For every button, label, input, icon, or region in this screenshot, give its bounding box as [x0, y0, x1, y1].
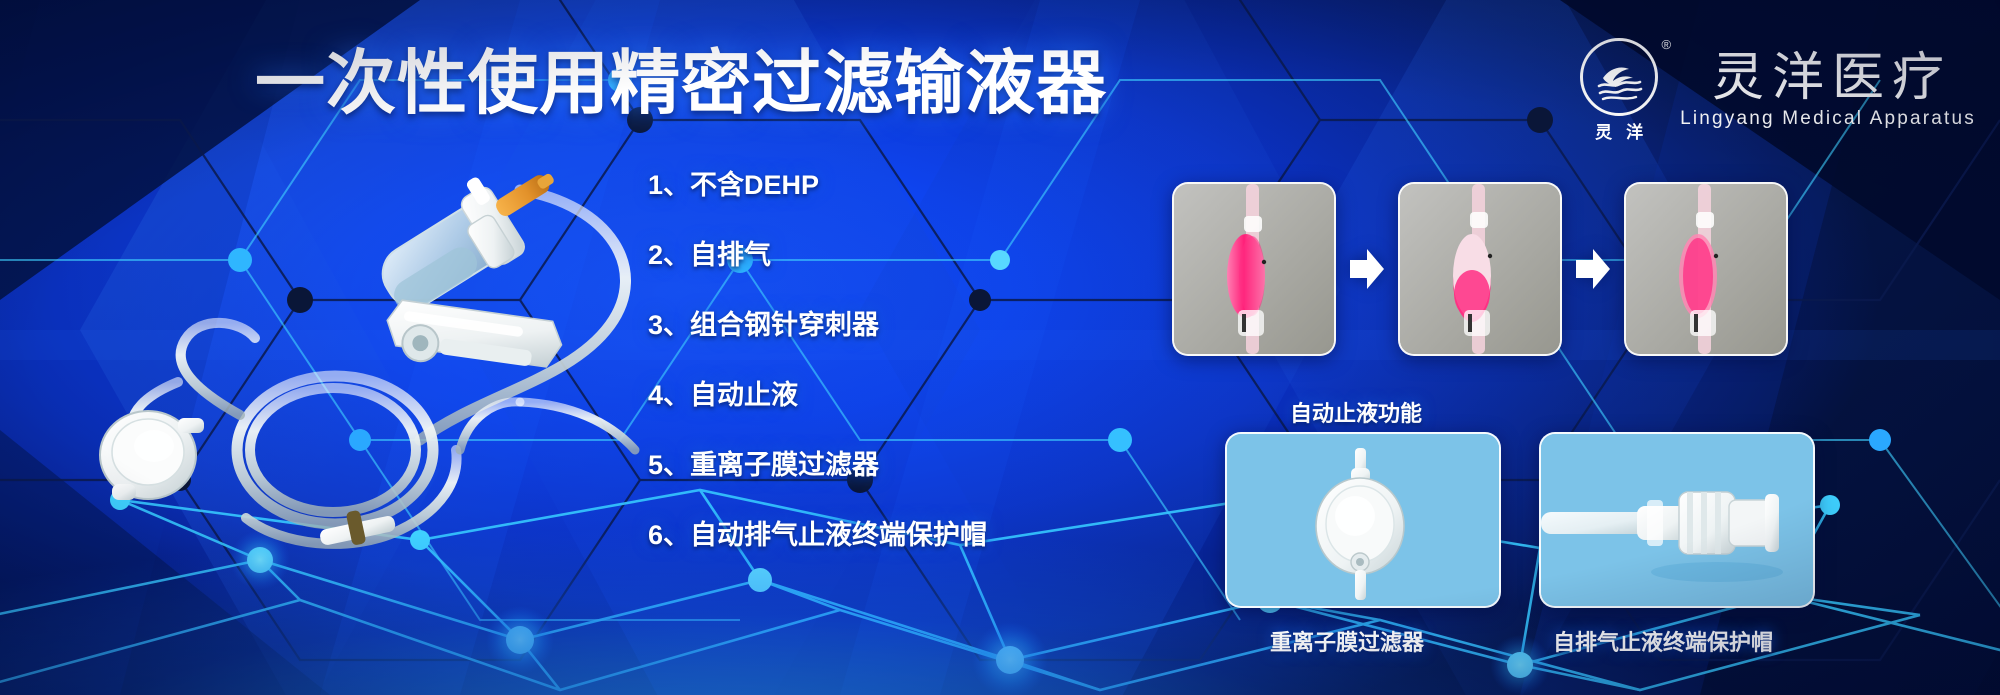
sequence-arrow-1-icon	[1350, 247, 1384, 291]
photo-terminal-protective-cap	[1539, 432, 1815, 608]
registered-mark-icon: ®	[1661, 37, 1671, 52]
arrow-right-svg	[1350, 247, 1384, 291]
feature-item-2: 2、自排气	[648, 242, 978, 269]
feature-item-4: 4、自动止液	[648, 382, 978, 409]
filter-caption: 重离子膜过滤器	[1270, 625, 1424, 657]
sequence-arrow-2-icon	[1576, 247, 1610, 291]
feature-list: 1、不含DEHP 2、自排气 3、组合钢针穿刺器 4、自动止液 5、重离子膜过滤…	[648, 172, 978, 549]
cap-photo-svg	[1541, 434, 1813, 606]
component-photo-pair	[1225, 432, 1815, 608]
photo-frame-full-flow	[1172, 182, 1336, 356]
product-banner: 一次性使用精密过滤输液器 ® 灵洋 灵洋医疗 Lingyang Medical …	[0, 0, 2000, 695]
hero-product-image	[50, 150, 670, 570]
feature-item-3: 3、组合钢针穿刺器	[648, 312, 978, 339]
auto-stop-caption: 自动止液功能	[1290, 396, 1422, 428]
feature-item-6: 6、自动排气止液终端保护帽	[648, 522, 978, 549]
auto-stop-half-svg	[1400, 184, 1560, 354]
brand-name-en: Lingyang Medical Apparatus	[1680, 108, 1976, 130]
page-title: 一次性使用精密过滤输液器	[255, 48, 1107, 118]
feature-item-5: 5、重离子膜过滤器	[648, 452, 978, 479]
filter-disc	[100, 411, 204, 500]
arrow-right-svg-2	[1576, 247, 1610, 291]
photo-frame-half-flow	[1398, 182, 1562, 356]
auto-stop-full-svg	[1174, 184, 1334, 354]
wave-emblem-icon	[1580, 38, 1658, 116]
photo-frame-stopped	[1624, 182, 1788, 356]
logo-mark-subtitle: 灵洋	[1581, 118, 1657, 143]
feature-item-1: 1、不含DEHP	[648, 172, 978, 199]
auto-stop-stopped-svg	[1626, 184, 1786, 354]
photo-heavy-ion-membrane-filter	[1225, 432, 1501, 608]
brand-name-cn: 灵洋医疗	[1704, 51, 1952, 106]
logo-mark: ® 灵洋	[1576, 38, 1662, 143]
auto-stop-photo-sequence	[1172, 182, 1788, 356]
infusion-set-illustration	[50, 150, 670, 570]
brand-logo: ® 灵洋 灵洋医疗 Lingyang Medical Apparatus	[1576, 38, 1976, 143]
roller-clamp	[382, 299, 564, 381]
wave-emblem-svg	[1589, 48, 1649, 106]
filter-photo-svg	[1227, 434, 1499, 606]
protective-cap-caption: 自排气止液终端保护帽	[1553, 625, 1773, 657]
brand-name-block: 灵洋医疗 Lingyang Medical Apparatus	[1680, 51, 1976, 130]
